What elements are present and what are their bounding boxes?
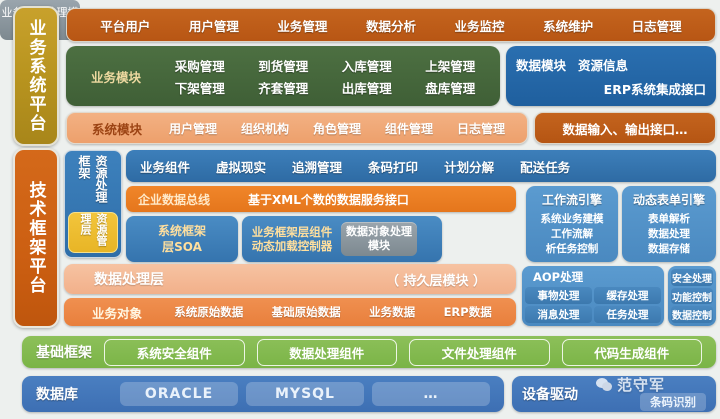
database-item-more: … — [372, 382, 490, 406]
business-module-item-1: 到货管理 — [242, 56, 326, 75]
aop-item-1: 缓存处理 — [594, 287, 661, 304]
platform-users-item-6: 日志管理 — [632, 16, 682, 35]
dynamic-loader-title: 业务框架层组件动态加载控制器 — [248, 225, 336, 254]
aop-item-2: 消息处理 — [525, 306, 592, 323]
business-component-3: 条码打印 — [368, 157, 418, 176]
base-framework-items: 系统安全组件 数据处理组件 文件处理组件 代码生成组件 — [104, 339, 702, 366]
platform-users-item-2: 业务管理 — [277, 16, 327, 35]
security-item-1: 功能控制 — [671, 288, 713, 305]
resource-manager-title: 资源管理层 — [77, 213, 109, 251]
business-module-item-0: 采购管理 — [158, 56, 242, 75]
persistence-layer-label: （ 持久层模块 ） — [386, 270, 486, 289]
data-io-interface-box: 数据输入、输出接口… — [534, 112, 716, 144]
esb-title: 企业数据总线 — [138, 191, 248, 208]
dynamic-form-engine-item-1: 数据处理 — [648, 227, 690, 242]
device-driver-title: 设备驱动 — [522, 384, 578, 404]
device-driver-bar: 设备驱动 条码识别 — [512, 376, 716, 412]
aop-title: AOP处理 — [525, 269, 661, 285]
soa-framework-box: 系统框架 层SOA — [126, 216, 238, 262]
business-object-item-1: 基础原始数据 — [272, 304, 341, 320]
enterprise-service-bus-bar: 企业数据总线 基于XML个数的数据服务接口 — [126, 186, 516, 212]
platform-users-item-5: 系统维护 — [543, 16, 593, 35]
base-framework-item-2: 文件处理组件 — [409, 339, 550, 366]
data-processing-layer-title: 数据处理层 — [94, 269, 164, 289]
tech-platform-label: 技术框架平台 — [13, 148, 59, 328]
business-object-item-3: ERP数据 — [444, 304, 492, 320]
dynamic-loader-box: 业务框架层组件动态加载控制器 数据对象处理模块 — [242, 216, 442, 262]
base-framework-item-3: 代码生成组件 — [562, 339, 703, 366]
system-module-items: 用户管理 组织机构 角色管理 组件管理 日志管理 — [157, 120, 517, 137]
business-module-items: 采购管理 到货管理 入库管理 上架管理 下架管理 齐套管理 出库管理 盘库管理 — [158, 56, 492, 97]
workflow-engine-item-1: 工作流解 — [541, 227, 604, 242]
security-control-box: 安全处理 功能控制 数据控制 — [668, 266, 716, 326]
business-module-item-5: 齐套管理 — [242, 78, 326, 97]
system-module-item-1: 组织机构 — [241, 120, 289, 137]
business-module-item-2: 入库管理 — [325, 56, 409, 75]
device-driver-item-0: 条码识别 — [640, 393, 706, 411]
system-module-title: 系统模块 — [77, 119, 157, 138]
business-components-bar: 业务组件 虚拟现实 追溯管理 条码打印 计划分解 配送任务 — [126, 150, 716, 182]
base-framework-item-0: 系统安全组件 — [104, 339, 245, 366]
platform-users-item-4: 业务监控 — [455, 16, 505, 35]
business-module-item-7: 盘库管理 — [409, 78, 493, 97]
business-object-bar: 业务对象 系统原始数据 基础原始数据 业务数据 ERP数据 — [64, 298, 516, 326]
system-module-item-0: 用户管理 — [169, 120, 217, 137]
resource-framework-box: 资源处理框架 资源管理层 — [64, 150, 122, 258]
platform-users-bar: 平台用户 用户管理 业务管理 数据分析 业务监控 系统维护 日志管理 — [66, 8, 716, 42]
data-object-module: 数据对象处理模块 — [341, 222, 417, 256]
business-module-item-6: 出库管理 — [325, 78, 409, 97]
database-title: 数据库 — [36, 384, 112, 404]
workflow-engine-item-0: 系统业务建模 — [541, 212, 604, 227]
data-module-box: 数据模块 资源信息 ERP系统集成接口 — [506, 46, 716, 106]
business-object-items: 系统原始数据 基础原始数据 业务数据 ERP数据 — [160, 304, 506, 320]
system-module-item-4: 日志管理 — [457, 120, 505, 137]
business-component-5: 配送任务 — [520, 157, 570, 176]
base-framework-bar: 基础框架 系统安全组件 数据处理组件 文件处理组件 代码生成组件 — [22, 336, 716, 368]
device-driver-items: 条码识别 — [578, 375, 706, 413]
business-platform-label: 业务系统平台 — [13, 6, 59, 146]
resource-framework-title: 资源处理框架 — [76, 155, 110, 209]
business-object-title: 业务对象 — [74, 303, 160, 322]
aop-items: 事物处理 缓存处理 消息处理 任务处理 — [525, 287, 661, 323]
system-module-item-3: 组件管理 — [385, 120, 433, 137]
data-processing-layer-bar: 数据处理层 （ 持久层模块 ） — [64, 264, 516, 294]
erp-integration-interface: ERP系统集成接口 — [516, 79, 706, 98]
aop-box: AOP处理 事物处理 缓存处理 消息处理 任务处理 — [522, 266, 664, 326]
aop-item-0: 事物处理 — [525, 287, 592, 304]
data-module-subtitle: 资源信息 — [578, 55, 628, 74]
system-module-bar: 系统模块 用户管理 组织机构 角色管理 组件管理 日志管理 — [66, 112, 528, 144]
workflow-engine-item-2: 析任务控制 — [541, 242, 604, 257]
business-component-0: 业务组件 — [140, 157, 190, 176]
workflow-engine-items: 系统业务建模 工作流解 析任务控制 — [541, 212, 604, 258]
database-bar: 数据库 ORACLE MYSQL … — [22, 376, 504, 412]
soa-line-1: 系统框架 — [158, 223, 206, 239]
dynamic-form-engine-item-0: 表单解析 — [648, 212, 690, 227]
business-object-item-2: 业务数据 — [369, 304, 415, 320]
business-module-title: 业务模块 — [74, 67, 158, 86]
platform-users-item-0: 平台用户 — [100, 16, 150, 35]
base-framework-title: 基础框架 — [36, 342, 92, 362]
security-item-2: 数据控制 — [671, 306, 713, 323]
business-module-item-3: 上架管理 — [409, 56, 493, 75]
dynamic-form-engine-title: 动态表单引擎 — [633, 191, 705, 208]
business-module-box: 业务模块 采购管理 到货管理 入库管理 上架管理 下架管理 齐套管理 出库管理 … — [66, 46, 500, 106]
security-item-0: 安全处理 — [671, 269, 713, 286]
database-item-mysql: MYSQL — [246, 382, 364, 406]
platform-users-item-1: 用户管理 — [189, 16, 239, 35]
business-component-2: 追溯管理 — [292, 157, 342, 176]
esb-description: 基于XML个数的数据服务接口 — [248, 191, 409, 208]
aop-item-3: 任务处理 — [594, 306, 661, 323]
workflow-engine-box: 工作流引擎 系统业务建模 工作流解 析任务控制 — [526, 186, 618, 262]
business-component-4: 计划分解 — [444, 157, 494, 176]
business-object-item-0: 系统原始数据 — [174, 304, 243, 320]
business-module-item-4: 下架管理 — [158, 78, 242, 97]
database-items: ORACLE MYSQL … — [120, 382, 490, 406]
system-module-item-2: 角色管理 — [313, 120, 361, 137]
dynamic-form-engine-item-2: 数据存储 — [648, 242, 690, 257]
dynamic-form-engine-items: 表单解析 数据处理 数据存储 — [648, 212, 690, 258]
soa-line-2: 层SOA — [162, 239, 202, 255]
dynamic-form-engine-box: 动态表单引擎 表单解析 数据处理 数据存储 — [622, 186, 716, 262]
base-framework-item-1: 数据处理组件 — [257, 339, 398, 366]
workflow-engine-title: 工作流引擎 — [542, 191, 602, 208]
architecture-diagram: 业务系统平台 平台用户 用户管理 业务管理 数据分析 业务监控 系统维护 日志管… — [0, 0, 720, 419]
platform-users-item-3: 数据分析 — [366, 16, 416, 35]
business-component-1: 虚拟现实 — [216, 157, 266, 176]
database-item-oracle: ORACLE — [120, 382, 238, 406]
data-module-title: 数据模块 — [516, 55, 566, 74]
resource-manager-box: 资源管理层 — [68, 212, 118, 253]
